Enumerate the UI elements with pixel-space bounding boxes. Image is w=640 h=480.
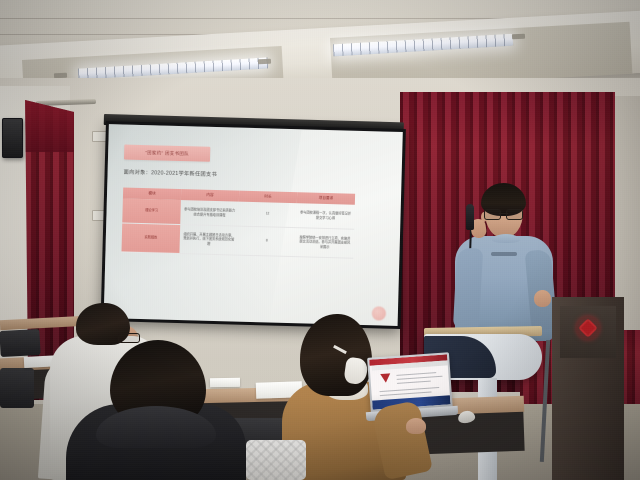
attendee-tan-coat-hair [300, 314, 372, 396]
paper-sheet [210, 378, 240, 388]
slide-banner: “团家约” 团支书团队 [124, 145, 210, 162]
ceiling-vent-icon [258, 59, 271, 65]
cell-content: 参与团校培训及团支部书记素质能力综合提升专题培训课程 [180, 200, 239, 226]
chair [0, 329, 41, 357]
attendee-glasses-icon [118, 333, 140, 343]
presenter-glasses-icon [484, 209, 523, 218]
slide-table: 模块 内容 时长 项目要求 理论学习 参与团校培训及团支部书记素质能力综合提升专… [121, 187, 355, 258]
attendee-tan-coat-hand [406, 418, 426, 434]
photo-scene: “团家约” 团支书团队 面向对象：2020-2021学年新任团支书 模块 内容 … [0, 0, 640, 480]
cell-requirement: 参与团校课程一次，认真做好笔记并提交学习心得 [296, 203, 355, 229]
presentation-slide: “团家约” 团支书团队 面向对象：2020-2021学年新任团支书 模块 内容 … [104, 124, 403, 326]
microphone-icon [466, 204, 474, 230]
ceiling-vent-icon [512, 34, 525, 40]
cell-requirement: 按照学院统一安排进行立项、实施并提交活动总结，参与并开展团支部风采展示 [295, 227, 354, 258]
wall-speaker [2, 118, 23, 158]
presenter-gesturing-hand [534, 290, 551, 307]
projector-screen: “团家约” 团支书团队 面向对象：2020-2021学年新任团支书 模块 内容 … [104, 124, 403, 326]
cell-category: 理论学习 [122, 198, 181, 224]
table-row: 实践锻炼 组织开展、开展主题团日活动方案、策划并执行，线下团务系统规范化管理 8… [121, 223, 354, 259]
slide-banner-text: “团家约” 团支书团队 [145, 150, 189, 157]
laptop-red-logo-icon [380, 373, 391, 383]
cell-duration: 12 [238, 202, 297, 228]
slide-decorative-circle [372, 306, 386, 320]
presenter-left-arm [453, 247, 483, 330]
cell-content: 组织开展、开展主题团日活动方案、策划并执行，线下团务系统规范化管理 [179, 224, 238, 255]
cell-category: 实践锻炼 [121, 223, 180, 254]
cell-duration: 8 [237, 226, 296, 257]
chair [0, 368, 34, 408]
presenter-collar [492, 234, 520, 243]
projector-screen-frame: “团家约” 团支书团队 面向对象：2020-2021学年新任团支书 模块 内容 … [101, 121, 406, 329]
podium-emblem-icon [576, 316, 600, 340]
quilted-handbag [246, 440, 306, 480]
slide-subtitle: 面向对象：2020-2021学年新任团支书 [124, 168, 388, 182]
laptop-screen [369, 354, 450, 409]
